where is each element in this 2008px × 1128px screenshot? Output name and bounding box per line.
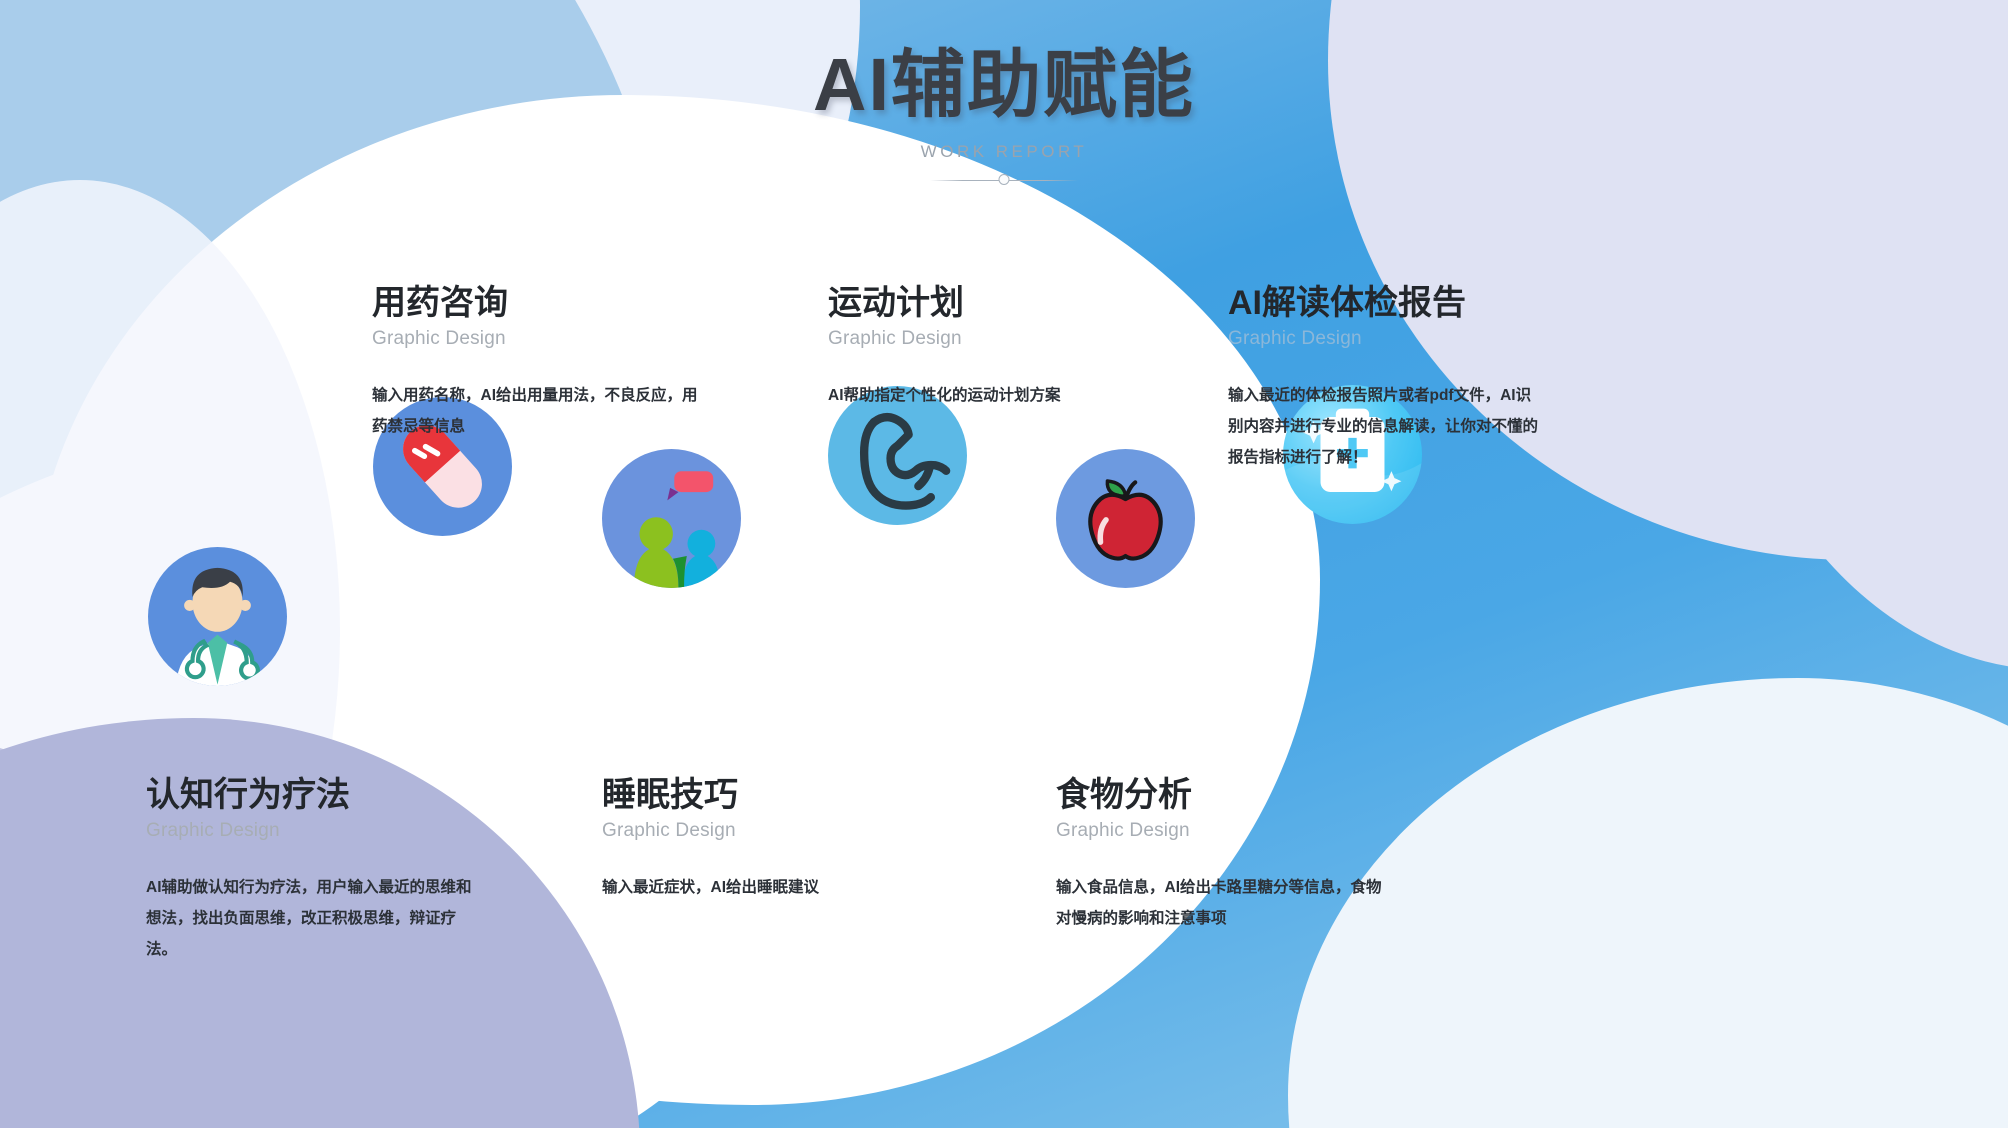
feature-desc-report: 输入最近的体检报告照片或者pdf文件，AI识别内容并进行专业的信息解读，让你对不… — [1228, 380, 1538, 473]
feature-title-report: AI解读体检报告 — [1228, 283, 1538, 323]
doctor-icon — [148, 547, 287, 686]
feature-title-food: 食物分析 — [1056, 775, 1396, 815]
feature-desc-cbt: AI辅助做认知行为疗法，用户输入最近的思维和想法，找出负面思维，改正积极思维，辩… — [146, 872, 476, 965]
feature-subtitle-medication: Graphic Design — [372, 328, 702, 350]
feature-desc-sport: AI帮助指定个性化的运动计划方案 — [828, 380, 1158, 411]
feature-subtitle-sleep: Graphic Design — [602, 820, 902, 842]
apple-icon — [1056, 449, 1195, 588]
page-subtitle: WORK REPORT — [0, 142, 2008, 162]
feature-block-medication: 用药咨询 Graphic Design 输入用药名称，AI给出用量用法，不良反应… — [372, 283, 702, 442]
feature-block-cbt: 认知行为疗法 Graphic Design AI辅助做认知行为疗法，用户输入最近… — [146, 775, 476, 965]
feature-desc-medication: 输入用药名称，AI给出用量用法，不良反应，用药禁忌等信息 — [372, 380, 702, 442]
feature-desc-sleep: 输入最近症状，AI给出睡眠建议 — [602, 872, 902, 903]
slide-canvas: AI辅助赋能 WORK REPORT — [0, 0, 2008, 1128]
header-divider — [930, 174, 1078, 188]
feature-subtitle-cbt: Graphic Design — [146, 820, 476, 842]
slide-header: AI辅助赋能 WORK REPORT — [0, 46, 2008, 188]
feature-block-sport: 运动计划 Graphic Design AI帮助指定个性化的运动计划方案 — [828, 283, 1158, 411]
feature-title-medication: 用药咨询 — [372, 283, 702, 323]
conversation-icon-svg — [602, 449, 741, 588]
page-title: AI辅助赋能 — [0, 46, 2008, 124]
doctor-icon-svg — [148, 547, 287, 686]
feature-subtitle-sport: Graphic Design — [828, 328, 1158, 350]
blob-bottom-right-white — [1288, 678, 2008, 1128]
conversation-icon — [602, 449, 741, 588]
feature-title-sport: 运动计划 — [828, 283, 1158, 323]
feature-subtitle-report: Graphic Design — [1228, 328, 1538, 350]
divider-dot-icon — [999, 174, 1010, 185]
feature-block-report: AI解读体检报告 Graphic Design 输入最近的体检报告照片或者pdf… — [1228, 283, 1538, 473]
feature-title-cbt: 认知行为疗法 — [146, 775, 476, 815]
feature-title-sleep: 睡眠技巧 — [602, 775, 902, 815]
feature-subtitle-food: Graphic Design — [1056, 820, 1396, 842]
apple-icon-svg — [1056, 449, 1195, 588]
feature-block-sleep: 睡眠技巧 Graphic Design 输入最近症状，AI给出睡眠建议 — [602, 775, 902, 903]
feature-desc-food: 输入食品信息，AI给出卡路里糖分等信息，食物对慢病的影响和注意事项 — [1056, 872, 1396, 934]
feature-block-food: 食物分析 Graphic Design 输入食品信息，AI给出卡路里糖分等信息，… — [1056, 775, 1396, 934]
